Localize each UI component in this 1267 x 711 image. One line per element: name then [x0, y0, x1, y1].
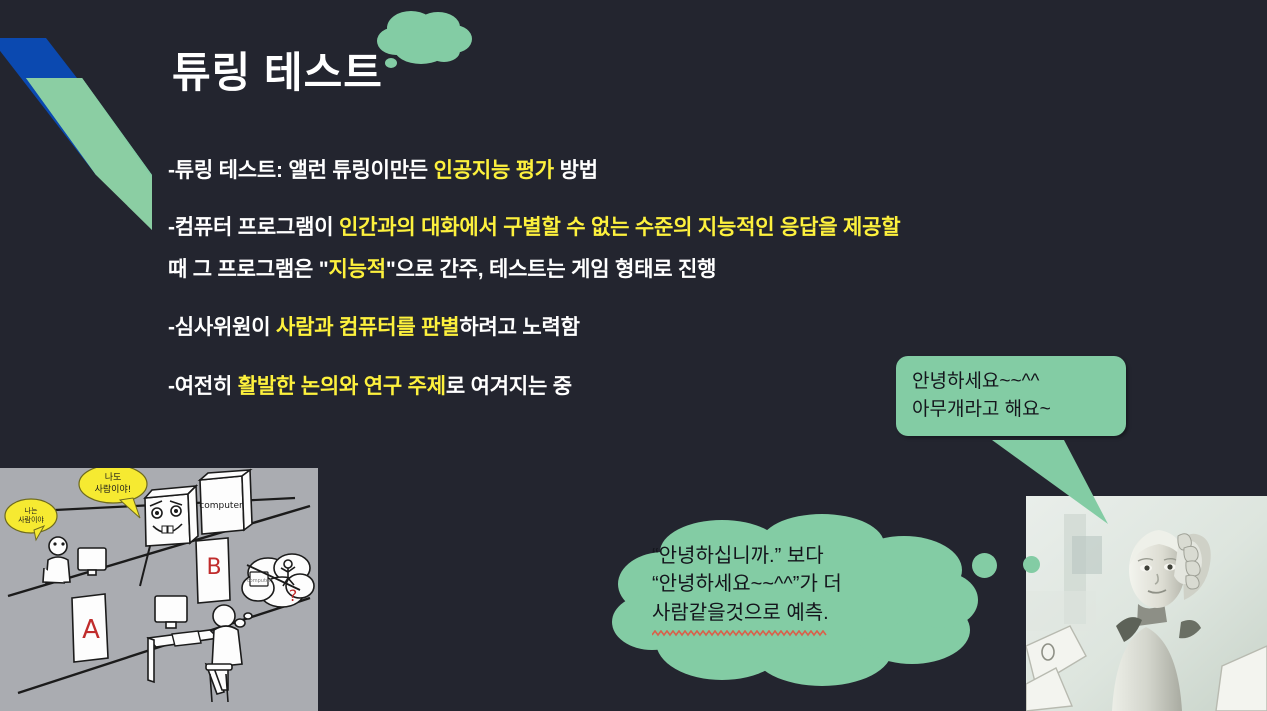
- text-run: "으로 간주, 테스트는 게임 형태로 진행: [386, 258, 716, 281]
- svg-text:A: A: [82, 615, 100, 645]
- svg-text:나는: 나는: [25, 506, 38, 515]
- thought-cloud-text: “안녕하십니까.” 보다 “안녕하세요~~^^”가 더 사람같을것으로 예측.: [652, 542, 952, 627]
- text-run: -여전히: [168, 375, 238, 398]
- text-run: 방법: [554, 159, 598, 182]
- speech-line-2: 아무개라고 해요~: [912, 396, 1112, 424]
- bullet-2-line-1: -컴퓨터 프로그램이 인간과의 대화에서 구별할 수 없는 수준의 지능적인 응…: [168, 217, 1158, 238]
- svg-text:사람이야!: 사람이야!: [95, 483, 132, 495]
- bullet-2-line-2: 때 그 프로그램은 "지능적"으로 간주, 테스트는 게임 형태로 진행: [168, 259, 1158, 280]
- svg-text:computer: computer: [199, 501, 243, 511]
- thought-line-1: “안녕하십니까.” 보다: [652, 542, 952, 570]
- thought-line-3: 사람같을것으로 예측.: [652, 599, 952, 627]
- thought-line-2: “안녕하세요~~^^”가 더: [652, 570, 952, 598]
- text-run: -컴퓨터 프로그램이: [168, 216, 339, 239]
- text-run: 하려고 노력함: [459, 316, 579, 339]
- speech-bubble-tail: [992, 440, 1132, 530]
- highlight-run: 활발한 논의와 연구 주제: [238, 375, 446, 398]
- turing-test-cartoon: 나는 사람이야 나도 사람이야! computer: [0, 468, 318, 711]
- thought-cloud-icon: [366, 6, 486, 86]
- svg-text:computer: computer: [247, 578, 272, 584]
- svg-text:나도: 나도: [105, 472, 122, 483]
- bullet-3-line-1: -심사위원이 사람과 컴퓨터를 판별하려고 노력함: [168, 317, 1158, 338]
- spellcheck-squiggle-icon: [652, 630, 827, 637]
- highlight-run: 사람과 컴퓨터를 판별: [276, 316, 459, 339]
- speech-bubble-body: 안녕하세요~~^^ 아무개라고 해요~: [896, 356, 1126, 436]
- thought-dot-small: [1023, 556, 1040, 573]
- highlight-run: 인공지능 평가: [434, 159, 554, 182]
- svg-text:사람이야: 사람이야: [18, 515, 44, 524]
- svg-text:B: B: [206, 555, 221, 580]
- text-run: -튜링 테스트: 앨런 튜링이만든: [168, 159, 434, 182]
- text-run: 때 그 프로그램은 ": [168, 258, 329, 281]
- highlight-run: 인간과의 대화에서 구별할 수 없는 수준의 지능적인 응답을 제공할: [339, 216, 900, 239]
- text-run: -심사위원이: [168, 316, 276, 339]
- speech-line-1: 안녕하세요~~^^: [912, 368, 1112, 396]
- bullet-1-line-1: -튜링 테스트: 앨런 튜링이만든 인공지능 평가 방법: [168, 160, 1158, 181]
- highlight-run: 지능적: [329, 258, 386, 281]
- page-title: 튜링 테스트: [172, 52, 383, 94]
- svg-text:?: ?: [289, 586, 298, 605]
- robot-speech-bubble: 안녕하세요~~^^ 아무개라고 해요~: [896, 356, 1126, 436]
- text-run: 로 여겨지는 중: [446, 375, 572, 398]
- slide: 튜링 테스트 -튜링 테스트: 앨런 튜링이만든 인공지능 평가 방법 -컴퓨터…: [0, 0, 1267, 711]
